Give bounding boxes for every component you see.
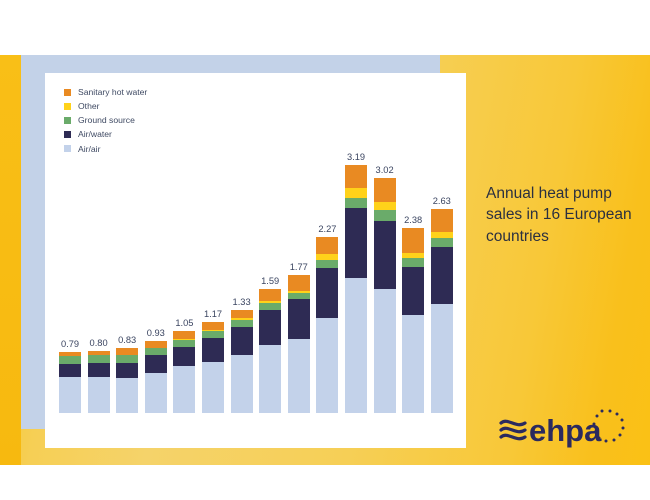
bar-segment[interactable] [431, 304, 453, 413]
bar-segment[interactable] [231, 320, 253, 327]
bar-segment[interactable] [116, 378, 138, 413]
bar-segment[interactable] [173, 366, 195, 413]
bar-segment[interactable] [374, 210, 396, 221]
chart-plot-area: 0.7920120.8020130.8320140.9320151.052016… [55, 73, 466, 448]
bar-segment[interactable] [259, 345, 281, 413]
bar-value-label: 3.19 [339, 152, 373, 162]
bar-segment[interactable] [259, 289, 281, 301]
bar-segment[interactable] [202, 338, 224, 361]
bar-segment[interactable] [431, 247, 453, 304]
stacked-bar[interactable] [402, 228, 424, 413]
bar-segment[interactable] [288, 275, 310, 291]
bar-segment[interactable] [316, 318, 338, 413]
bar-value-label: 1.33 [225, 297, 259, 307]
bar-value-label: 2.38 [396, 215, 430, 225]
bar-segment[interactable] [345, 165, 367, 188]
stacked-bar[interactable] [374, 178, 396, 413]
bar-segment[interactable] [259, 310, 281, 345]
bar-value-label: 3.02 [368, 165, 402, 175]
bar-segment[interactable] [374, 221, 396, 289]
bar-segment[interactable] [59, 356, 81, 364]
bar-segment[interactable] [345, 198, 367, 208]
bar-value-label: 1.77 [282, 262, 316, 272]
bar-series-container: 0.7920120.8020130.8320140.9320151.052016… [55, 73, 466, 413]
bar-segment[interactable] [145, 341, 167, 348]
ehpa-wordmark: ehpa [529, 413, 602, 448]
bar-segment[interactable] [59, 377, 81, 413]
bar-segment[interactable] [145, 348, 167, 356]
bar-segment[interactable] [231, 355, 253, 413]
bar-segment[interactable] [288, 339, 310, 413]
bar-segment[interactable] [402, 228, 424, 253]
bar-segment[interactable] [374, 202, 396, 210]
bar-segment[interactable] [173, 331, 195, 339]
wave-lines-icon [501, 421, 525, 438]
bar-segment[interactable] [116, 363, 138, 378]
bar-segment[interactable] [173, 347, 195, 366]
stacked-bar[interactable] [145, 341, 167, 413]
stacked-bar[interactable] [288, 275, 310, 413]
bar-segment[interactable] [345, 188, 367, 198]
bar-segment[interactable] [116, 355, 138, 364]
bar-segment[interactable] [288, 299, 310, 339]
chart-card: Sanitary hot waterOtherGround sourceAir/… [45, 73, 466, 448]
stacked-bar[interactable] [173, 331, 195, 413]
bar-segment[interactable] [202, 322, 224, 330]
stacked-bar[interactable] [59, 352, 81, 413]
bar-segment[interactable] [145, 373, 167, 413]
bar-segment[interactable] [88, 363, 110, 377]
stacked-bar[interactable] [116, 348, 138, 413]
bar-segment[interactable] [173, 340, 195, 347]
bar-segment[interactable] [431, 238, 453, 247]
bar-segment[interactable] [88, 355, 110, 363]
bar-segment[interactable] [402, 267, 424, 315]
bar-segment[interactable] [316, 268, 338, 319]
bar-segment[interactable] [202, 331, 224, 338]
bar-segment[interactable] [259, 303, 281, 310]
bar-segment[interactable] [231, 310, 253, 319]
ehpa-logo: ehpa [498, 407, 630, 453]
stacked-bar[interactable] [202, 322, 224, 413]
bar-segment[interactable] [345, 208, 367, 279]
bar-segment[interactable] [316, 237, 338, 255]
stacked-bar[interactable] [88, 351, 110, 413]
bar-value-label: 0.93 [139, 328, 173, 338]
stacked-bar[interactable] [431, 209, 453, 413]
slide-canvas: Sanitary hot waterOtherGround sourceAir/… [0, 55, 650, 465]
bar-segment[interactable] [59, 364, 81, 377]
bar-value-label: 1.59 [253, 276, 287, 286]
bar-segment[interactable] [202, 362, 224, 413]
bar-segment[interactable] [374, 178, 396, 202]
slide-left-accent-bar [0, 55, 21, 465]
bar-segment[interactable] [145, 355, 167, 372]
slide-caption: Annual heat pump sales in 16 European co… [486, 183, 636, 247]
bar-segment[interactable] [345, 278, 367, 412]
bar-value-label: 2.63 [425, 196, 459, 206]
stacked-bar[interactable] [259, 289, 281, 413]
bar-segment[interactable] [231, 327, 253, 355]
stacked-bar[interactable] [345, 165, 367, 413]
bar-segment[interactable] [402, 258, 424, 267]
stacked-bar[interactable] [231, 310, 253, 413]
bar-value-label: 1.17 [196, 309, 230, 319]
bar-segment[interactable] [402, 315, 424, 413]
bar-segment[interactable] [88, 377, 110, 413]
bar-segment[interactable] [288, 293, 310, 300]
stacked-bar[interactable] [316, 237, 338, 413]
bar-segment[interactable] [316, 260, 338, 268]
bar-value-label: 2.27 [310, 224, 344, 234]
bar-segment[interactable] [431, 209, 453, 232]
bar-segment[interactable] [374, 289, 396, 413]
bar-value-label: 1.05 [167, 318, 201, 328]
